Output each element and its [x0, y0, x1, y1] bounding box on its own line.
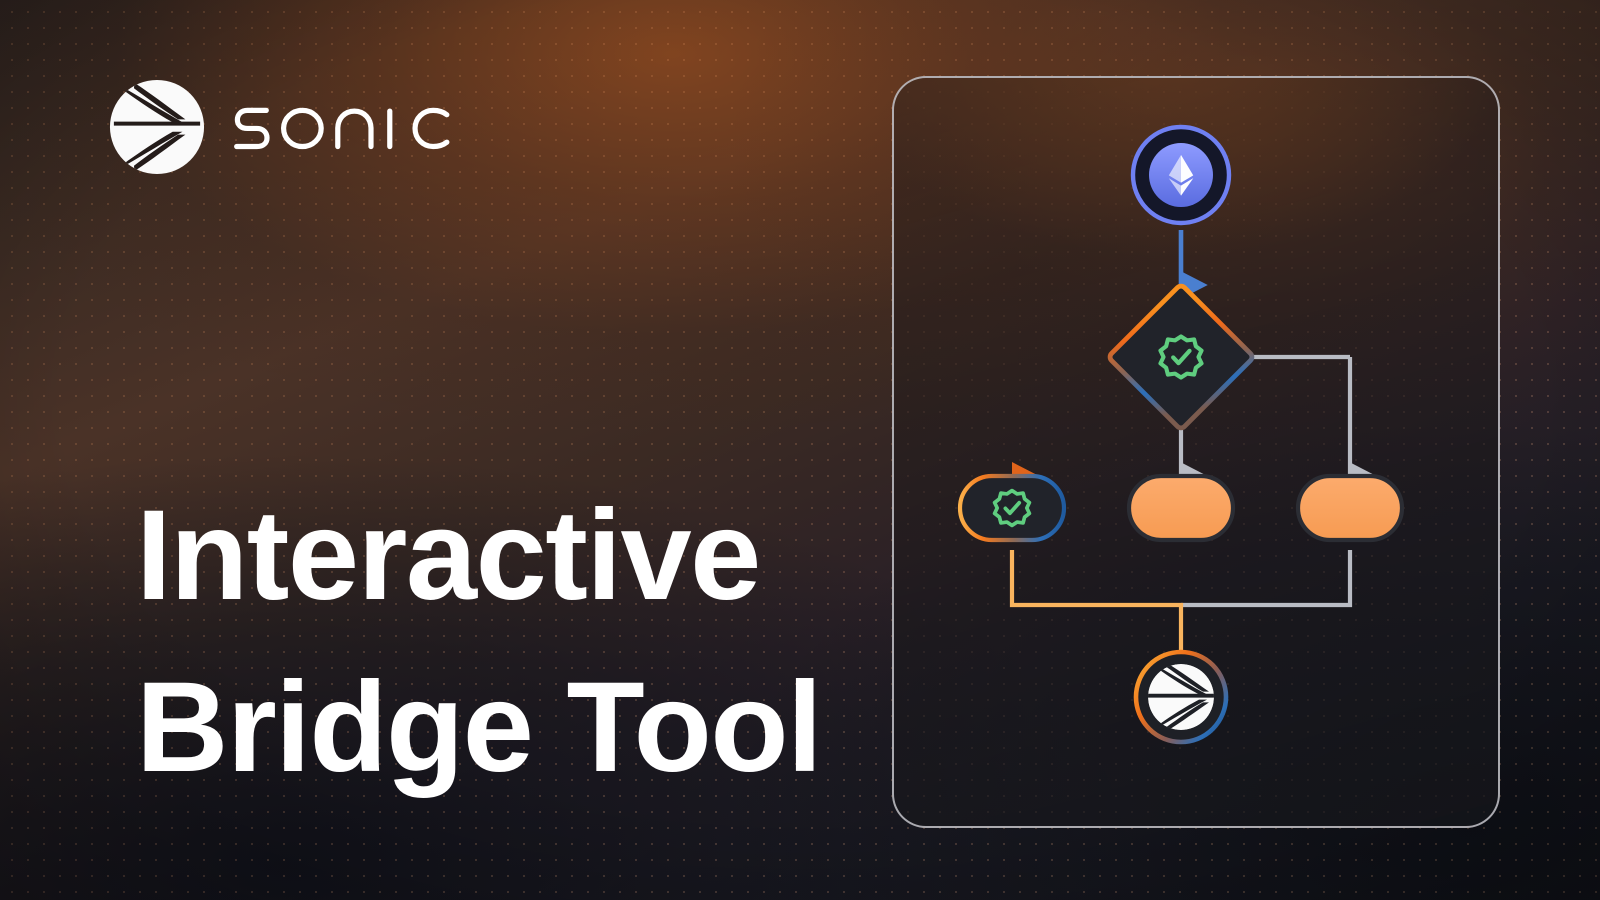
promo-banner: Interactive Bridge Tool [0, 0, 1600, 900]
brand-wordmark [228, 101, 466, 153]
sonic-logo-icon [108, 78, 206, 176]
page-title: Interactive Bridge Tool [136, 470, 876, 813]
headline-line-1: Interactive [136, 470, 876, 642]
node-source-chain[interactable] [1133, 127, 1229, 223]
node-branch-verified[interactable] [960, 476, 1064, 540]
node-destination-sonic[interactable] [1136, 652, 1226, 742]
brand-lockup [108, 78, 466, 176]
edge-right-to-destination [1181, 550, 1350, 605]
node-branch-right[interactable] [1298, 476, 1402, 540]
headline-line-2: Bridge Tool [136, 642, 876, 814]
bridge-flow-diagram [894, 78, 1498, 826]
node-validation-decision[interactable] [1108, 284, 1254, 430]
diagram-card [892, 76, 1500, 828]
node-branch-middle[interactable] [1129, 476, 1233, 540]
